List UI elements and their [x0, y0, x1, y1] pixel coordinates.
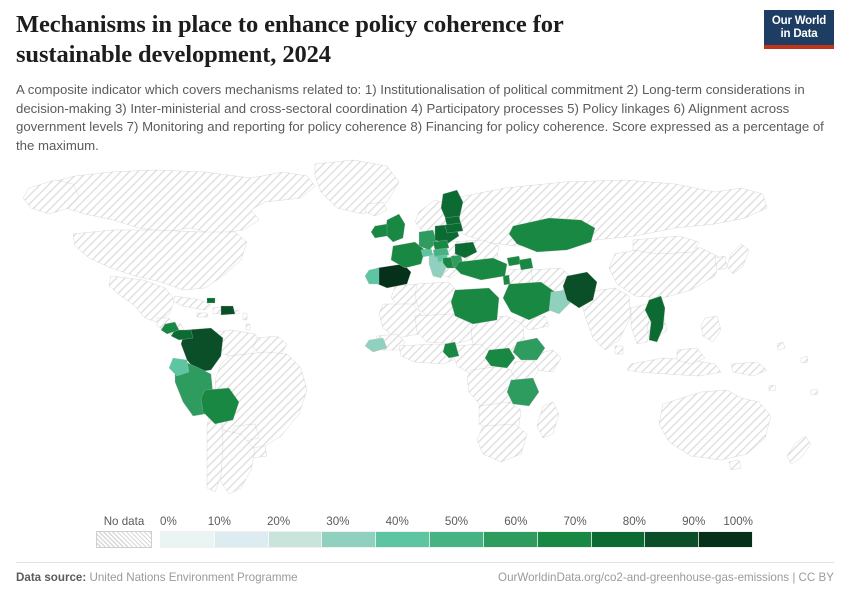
country-guyana-suriname-guiana[interactable]	[253, 336, 287, 354]
country-indonesia[interactable]	[627, 358, 721, 376]
legend-tick-10: 10%	[208, 515, 231, 528]
legend-no-data-swatch[interactable]	[96, 531, 152, 548]
legend-bin-10[interactable]	[698, 532, 752, 547]
legend-tick-50: 50%	[445, 515, 468, 528]
country-russia[interactable]	[449, 180, 767, 246]
map-legend: No data 0%10%20%30%40%50%60%70%80%90%100…	[0, 506, 850, 554]
owid-logo[interactable]: Our World in Data	[764, 10, 834, 49]
country-tasmania[interactable]	[729, 460, 741, 470]
footer-source-label: Data source:	[16, 571, 86, 584]
country-koreas[interactable]	[715, 256, 727, 270]
legend-tick-30: 30%	[326, 515, 349, 528]
country-azerbaijan-value[interactable]	[519, 258, 533, 270]
country-australia[interactable]	[659, 390, 771, 460]
legend-tick-60: 60%	[504, 515, 527, 528]
country-cuba[interactable]	[173, 296, 211, 310]
country-japan[interactable]	[727, 244, 749, 274]
chart-footer: Data source: United Nations Environment …	[16, 562, 834, 584]
owid-map-chart: Mechanisms in place to enhance policy co…	[0, 0, 850, 600]
chart-subtitle: A composite indicator which covers mecha…	[16, 81, 826, 156]
country-southern-africa[interactable]	[477, 424, 527, 462]
country-new-zealand[interactable]	[787, 436, 811, 464]
country-tanzania-value[interactable]	[507, 378, 539, 406]
header-text-block: Mechanisms in place to enhance policy co…	[16, 10, 676, 70]
legend-bin-5[interactable]	[429, 532, 483, 547]
logo-line-1: Our World	[768, 15, 830, 28]
country-papua-new-guinea[interactable]	[731, 362, 767, 376]
footer-source-value: United Nations Environment Programme	[89, 571, 297, 584]
country-sri-lanka[interactable]	[615, 346, 623, 354]
legend-no-data-label: No data	[94, 515, 154, 528]
country-madagascar[interactable]	[537, 402, 559, 438]
map-countries-nodata	[23, 160, 818, 494]
country-lesser-antilles[interactable]	[243, 313, 250, 330]
legend-bin-0[interactable]	[161, 532, 214, 547]
country-mongolia[interactable]	[633, 236, 699, 254]
country-ireland-value[interactable]	[371, 224, 387, 238]
country-dominican-republic-value[interactable]	[221, 306, 235, 315]
country-united-kingdom-value[interactable]	[385, 214, 405, 242]
world-map-svg[interactable]	[14, 158, 836, 498]
logo-line-2: in Data	[768, 28, 830, 41]
country-portugal-value[interactable]	[365, 268, 379, 284]
country-caribbean-small-value[interactable]	[207, 298, 215, 303]
country-china[interactable]	[609, 246, 721, 298]
country-iceland[interactable]	[365, 202, 387, 216]
page-title: Mechanisms in place to enhance policy co…	[16, 10, 676, 70]
legend-bin-3[interactable]	[321, 532, 375, 547]
country-georgia-value[interactable]	[507, 256, 521, 266]
footer-attribution[interactable]: OurWorldinData.org/co2-and-greenhouse-ga…	[498, 571, 834, 584]
country-philippines[interactable]	[701, 316, 721, 342]
legend-tick-40: 40%	[386, 515, 409, 528]
legend-bin-1[interactable]	[214, 532, 268, 547]
chart-header: Mechanisms in place to enhance policy co…	[16, 10, 834, 70]
legend-tick-90: 90%	[682, 515, 705, 528]
legend-bin-8[interactable]	[591, 532, 645, 547]
country-pacific-islands[interactable]	[769, 342, 818, 395]
country-jamaica[interactable]	[197, 313, 208, 317]
legend-tick-20: 20%	[267, 515, 290, 528]
footer-source: Data source: United Nations Environment …	[16, 571, 298, 584]
legend-bin-6[interactable]	[483, 532, 537, 547]
world-map[interactable]	[14, 158, 836, 498]
legend-bin-2[interactable]	[268, 532, 322, 547]
country-canada[interactable]	[43, 170, 315, 234]
country-greenland[interactable]	[315, 160, 399, 214]
legend-bin-7[interactable]	[537, 532, 591, 547]
country-lebanon-israel-value[interactable]	[503, 275, 510, 285]
legend-bin-4[interactable]	[375, 532, 429, 547]
legend-bin-9[interactable]	[644, 532, 698, 547]
country-united-states[interactable]	[73, 230, 247, 290]
country-saudi-arabia-value[interactable]	[503, 282, 555, 320]
legend-tick-100: 100%	[723, 515, 753, 528]
legend-color-bar[interactable]	[160, 531, 753, 548]
legend-tick-0: 0%	[160, 515, 177, 528]
legend-tick-80: 80%	[623, 515, 646, 528]
legend-tick-70: 70%	[563, 515, 586, 528]
